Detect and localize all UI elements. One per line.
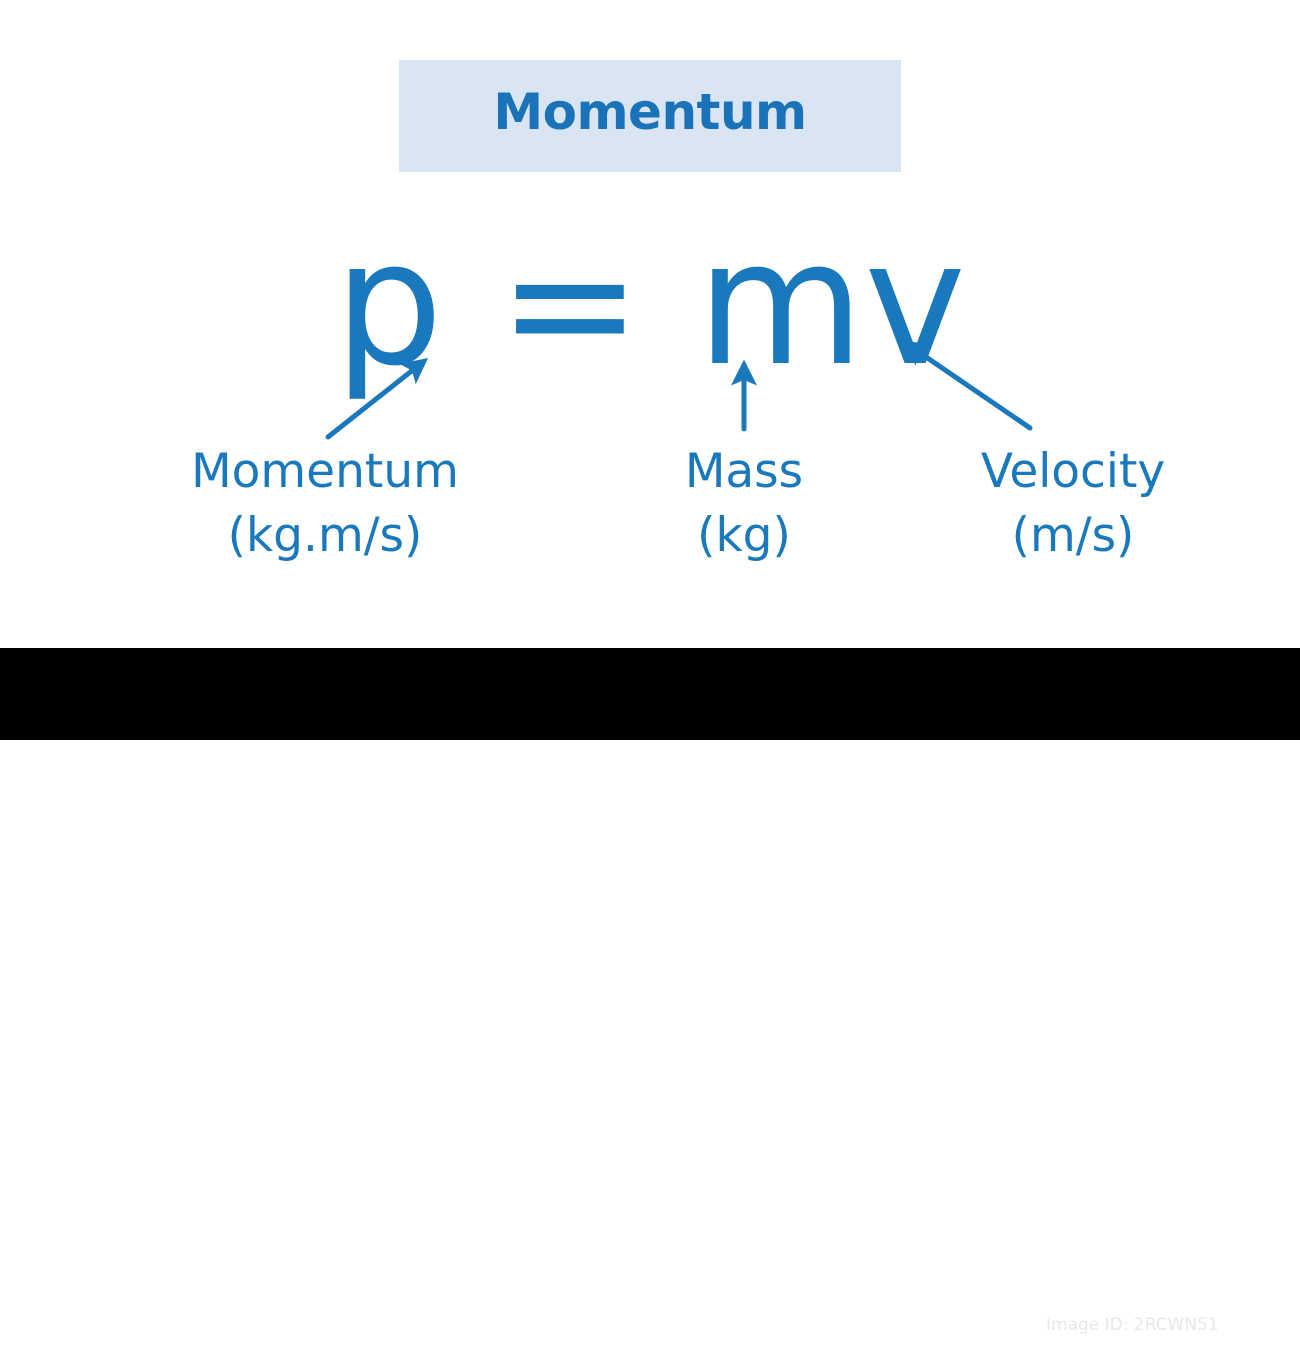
page-title: Momentum (399, 82, 901, 142)
label-mass: Mass (kg) (632, 440, 856, 568)
alamy-url-text: www.alamy.com (1046, 1337, 1276, 1363)
alamy-logo: alamy (50, 1316, 170, 1362)
figure-canvas: Momentum p = mv Momentum (kg.m/s) Mass (… (0, 0, 1300, 740)
label-mass-unit: (kg) (632, 504, 856, 568)
label-velocity-unit: (m/s) (918, 504, 1228, 568)
label-velocity: Velocity (m/s) (918, 440, 1228, 568)
watermark-bar: alamy Image ID: 2RCWN51 www.alamy.com (0, 648, 1300, 740)
label-velocity-name: Velocity (981, 444, 1165, 499)
formula-text: p = mv (0, 218, 1300, 390)
image-id-text: Image ID: 2RCWN51 (1046, 1314, 1276, 1337)
label-momentum-name: Momentum (191, 444, 459, 499)
label-momentum: Momentum (kg.m/s) (144, 440, 506, 568)
label-mass-name: Mass (685, 444, 803, 499)
label-momentum-unit: (kg.m/s) (144, 504, 506, 568)
watermark-info: Image ID: 2RCWN51 www.alamy.com (1046, 1314, 1276, 1363)
